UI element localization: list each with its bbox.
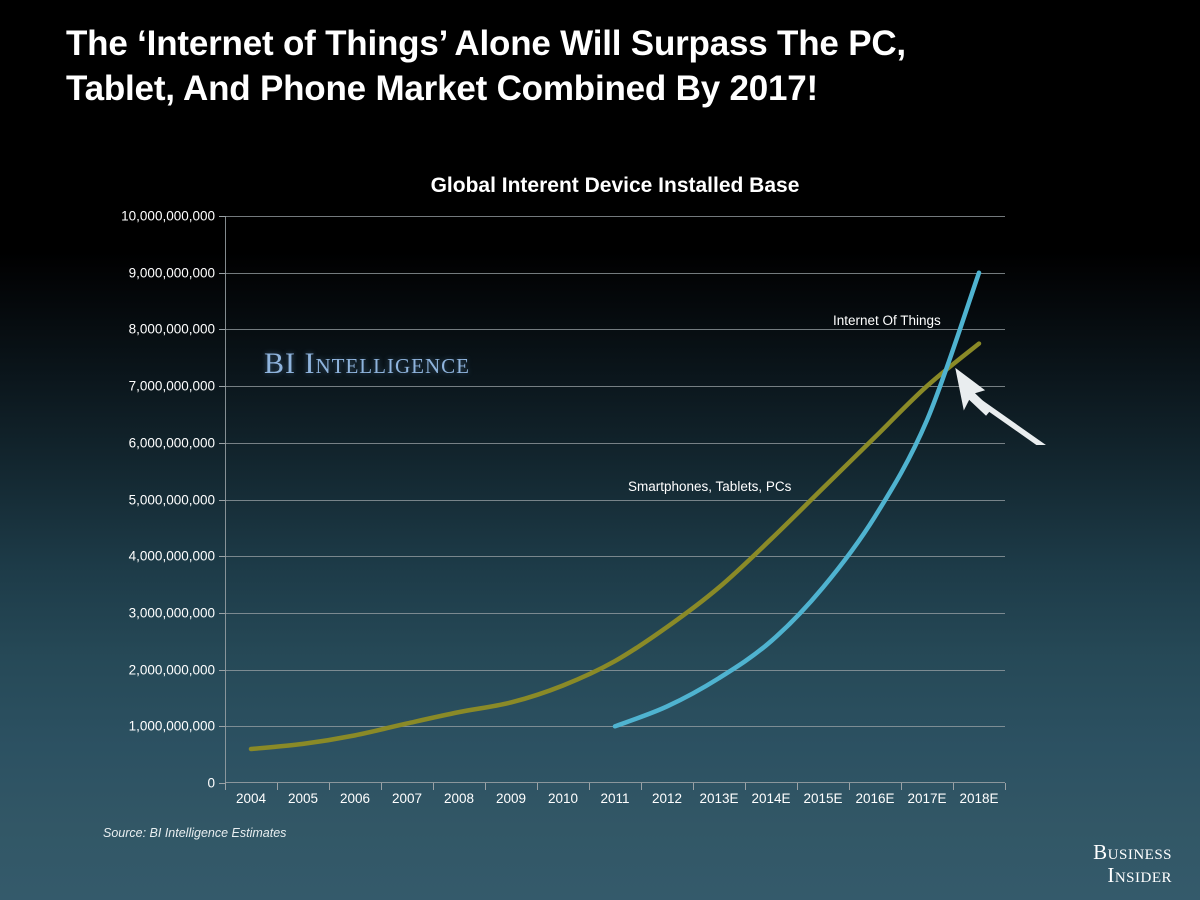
x-axis-tick <box>953 783 954 790</box>
crossover-arrow-icon <box>940 355 1050 445</box>
x-axis-tick <box>277 783 278 790</box>
x-axis-label: 2016E <box>855 791 894 806</box>
bi-intelligence-watermark: BI Intelligence <box>264 347 470 381</box>
y-axis-label: 6,000,000,000 <box>129 435 215 450</box>
source-note: Source: BI Intelligence Estimates <box>103 826 286 840</box>
series-line-smartphones-tablets-pcs <box>251 344 979 749</box>
y-axis-label: 7,000,000,000 <box>129 379 215 394</box>
series-line-internet-of-things <box>615 273 979 727</box>
x-axis-label: 2011 <box>600 791 629 806</box>
x-axis-label: 2015E <box>803 791 842 806</box>
x-axis-tick <box>797 783 798 790</box>
x-axis-label: 2009 <box>496 791 526 806</box>
y-axis-label: 5,000,000,000 <box>129 492 215 507</box>
x-axis-label: 2007 <box>392 791 422 806</box>
x-axis-tick <box>693 783 694 790</box>
x-axis-label: 2008 <box>444 791 474 806</box>
x-axis-tick <box>1005 783 1006 790</box>
y-axis-label: 9,000,000,000 <box>129 265 215 280</box>
y-axis-label: 4,000,000,000 <box>129 549 215 564</box>
chart-title: Global Interent Device Installed Base <box>225 174 1005 198</box>
y-axis-label: 0 <box>207 776 215 791</box>
x-axis-labels: 2004200520062007200820092010201120122013… <box>225 791 1005 815</box>
x-axis-tick <box>589 783 590 790</box>
x-axis-tick <box>225 783 226 790</box>
x-axis-label: 2006 <box>340 791 370 806</box>
x-axis-tick <box>641 783 642 790</box>
x-axis-label: 2004 <box>236 791 266 806</box>
y-axis-label: 1,000,000,000 <box>129 719 215 734</box>
x-axis-label: 2017E <box>907 791 946 806</box>
business-insider-logo: Business Insider <box>1093 841 1172 886</box>
x-axis-tick <box>849 783 850 790</box>
y-axis-labels: 01,000,000,0002,000,000,0003,000,000,000… <box>97 216 215 783</box>
x-axis-tick <box>381 783 382 790</box>
y-axis-label: 3,000,000,000 <box>129 605 215 620</box>
x-axis-label: 2018E <box>959 791 998 806</box>
x-axis-label: 2010 <box>548 791 578 806</box>
series-annotation-internet-of-things: Internet Of Things <box>833 313 941 328</box>
plot-area <box>225 216 1005 783</box>
x-axis-tick <box>329 783 330 790</box>
x-axis-label: 2013E <box>699 791 738 806</box>
x-axis-tick <box>433 783 434 790</box>
y-axis-label: 8,000,000,000 <box>129 322 215 337</box>
x-axis-label: 2005 <box>288 791 318 806</box>
x-axis-ticks <box>225 783 1005 791</box>
x-axis-tick <box>745 783 746 790</box>
y-axis-label: 2,000,000,000 <box>129 662 215 677</box>
x-axis-tick <box>537 783 538 790</box>
x-axis-tick <box>485 783 486 790</box>
logo-line-business: Business <box>1093 841 1172 864</box>
x-axis-label: 2012 <box>652 791 682 806</box>
logo-line-insider: Insider <box>1093 864 1172 887</box>
series-lines <box>225 216 1005 783</box>
slide-canvas: The ‘Internet of Things’ Alone Will Surp… <box>0 0 1200 900</box>
x-axis-label: 2014E <box>751 791 790 806</box>
y-axis-label: 10,000,000,000 <box>121 209 215 224</box>
x-axis-tick <box>901 783 902 790</box>
series-annotation-smartphones-tablets-pcs: Smartphones, Tablets, PCs <box>628 479 791 494</box>
page-title: The ‘Internet of Things’ Alone Will Surp… <box>66 22 1136 112</box>
